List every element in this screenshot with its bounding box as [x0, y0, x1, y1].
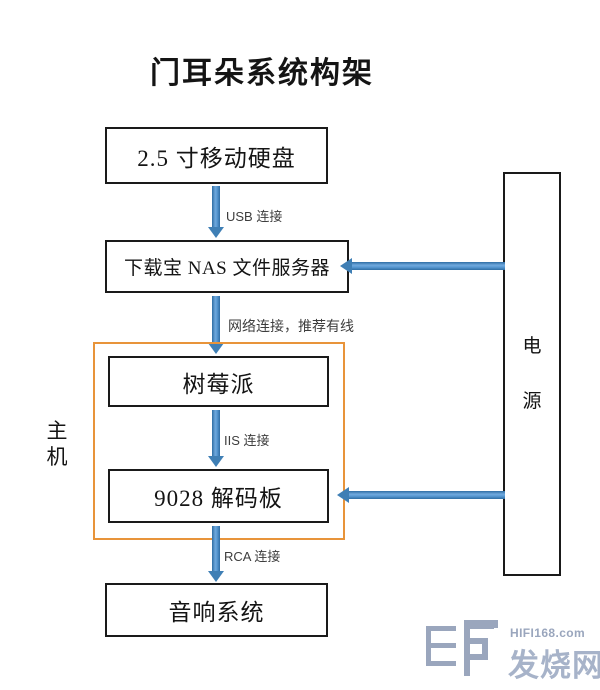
arrow-head-left-icon — [340, 258, 352, 274]
arrow-shaft — [212, 186, 220, 227]
arrow-dac-to-audio — [208, 526, 224, 582]
arrow-head-down-icon — [208, 571, 224, 582]
page-title: 门耳朵系统构架 — [150, 48, 450, 92]
watermark: HIFI168.com 发烧网 — [424, 614, 596, 686]
node-audio-system-label: 音响系统 — [169, 593, 265, 627]
group-label-host-char-2: 机 — [40, 444, 74, 470]
arrow-shaft — [348, 491, 505, 499]
diagram-canvas: 门耳朵系统构架 2.5 寸移动硬盘 USB 连接 下载宝 NAS 文件服务器 网… — [0, 0, 600, 690]
node-power-supply: 电 源 — [503, 172, 561, 576]
arrow-hdd-to-nas — [208, 186, 224, 238]
node-power-supply-char-1: 电 — [522, 337, 541, 356]
arrow-head-down-icon — [208, 456, 224, 467]
watermark-site: HIFI168.com — [510, 626, 585, 640]
edge-label-network: 网络连接，推荐有线 — [228, 316, 354, 336]
node-portable-hdd-label: 2.5 寸移动硬盘 — [137, 139, 296, 173]
arrow-rpi-to-dac — [208, 410, 224, 467]
edge-label-rca: RCA 连接 — [224, 546, 280, 565]
arrow-shaft — [212, 526, 220, 571]
node-9028-decoder-board: 9028 解码板 — [108, 469, 329, 523]
edge-label-iis: IIS 连接 — [224, 430, 270, 449]
arrow-head-down-icon — [208, 227, 224, 238]
arrow-power-to-dac — [337, 487, 505, 503]
arrow-head-left-icon — [337, 487, 349, 503]
node-nas-file-server-label: 下载宝 NAS 文件服务器 — [124, 253, 330, 280]
node-9028-decoder-board-label: 9028 解码板 — [154, 479, 283, 513]
hifi168-logo-icon — [424, 618, 510, 680]
watermark-name: 发烧网 — [508, 640, 600, 685]
node-power-supply-char-2: 源 — [522, 392, 541, 411]
arrow-shaft — [351, 262, 505, 270]
group-label-host-char-1: 主 — [40, 418, 74, 444]
node-raspberry-pi: 树莓派 — [108, 356, 329, 407]
edge-label-usb: USB 连接 — [226, 206, 282, 225]
node-audio-system: 音响系统 — [105, 583, 328, 637]
node-raspberry-pi-label: 树莓派 — [183, 365, 255, 399]
node-nas-file-server: 下载宝 NAS 文件服务器 — [105, 240, 349, 293]
arrow-power-to-nas — [340, 258, 505, 274]
arrow-shaft — [212, 410, 220, 456]
node-portable-hdd: 2.5 寸移动硬盘 — [105, 127, 328, 184]
arrow-shaft — [212, 296, 220, 343]
group-label-host: 主 机 — [40, 418, 74, 470]
